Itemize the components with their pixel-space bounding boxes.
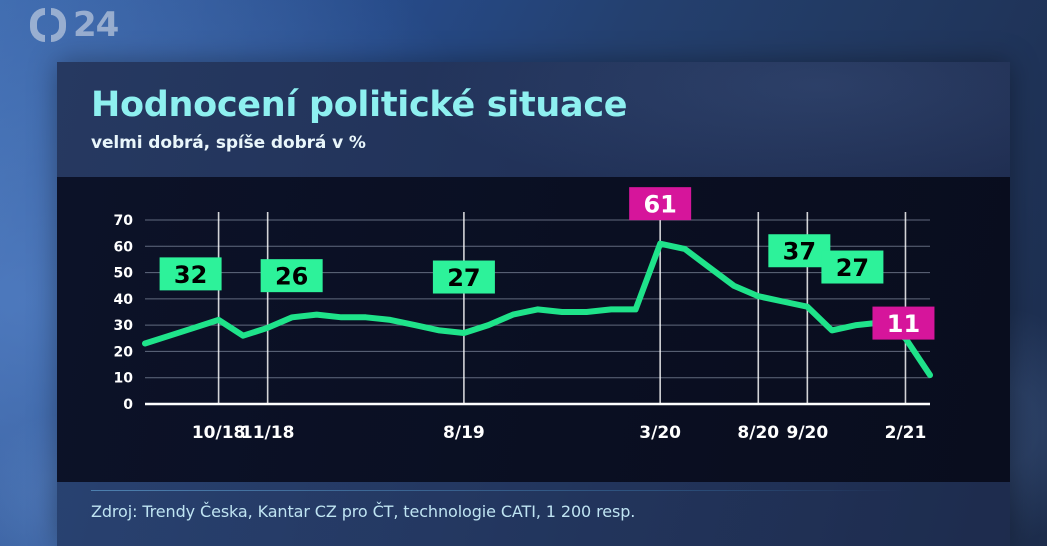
x-axis-tick-label: 10/18	[192, 423, 246, 443]
y-axis-tick-label: 0	[123, 397, 133, 413]
chart-subtitle: velmi dobrá, spíše dobrá v %	[91, 133, 366, 153]
value-callout: 27	[433, 261, 495, 294]
y-axis-tick-label: 30	[114, 318, 134, 334]
callout-label: 61	[643, 191, 676, 219]
footer-divider	[91, 490, 906, 491]
x-axis-tick-label: 9/20	[786, 423, 828, 443]
x-axis-tick-label: 3/20	[639, 423, 681, 443]
x-axis-tick-label: 11/18	[241, 423, 295, 443]
value-callout: 32	[160, 257, 222, 290]
infographic-panel: Hodnocení politické situace velmi dobrá,…	[57, 62, 1010, 546]
callout-label: 27	[447, 264, 480, 292]
value-callout: 61	[629, 187, 691, 220]
line-chart-svg: 01020304050607010/1811/188/193/208/209/2…	[57, 177, 1010, 482]
x-axis-tick-label: 8/20	[737, 423, 779, 443]
callout-label: 11	[887, 310, 920, 338]
callout-label: 27	[836, 254, 869, 282]
source-note: Zdroj: Trendy Česka, Kantar CZ pro ČT, t…	[91, 502, 635, 521]
ct24-logo: 24	[30, 8, 118, 42]
y-axis-tick-label: 10	[114, 371, 134, 387]
y-axis-tick-label: 70	[114, 213, 134, 229]
y-axis-tick-label: 20	[114, 344, 134, 360]
x-axis-tick-label: 8/19	[443, 423, 485, 443]
y-axis-tick-label: 60	[114, 239, 134, 255]
chart-plot-area: 01020304050607010/1811/188/193/208/209/2…	[57, 177, 1010, 482]
logo-channel-number: 24	[73, 8, 118, 42]
panel-header: Hodnocení politické situace velmi dobrá,…	[57, 62, 1010, 177]
ct-eye-icon	[30, 8, 66, 42]
chart-title: Hodnocení politické situace	[91, 85, 627, 125]
x-axis-tick-label: 2/21	[885, 423, 927, 443]
callout-label: 37	[783, 238, 816, 266]
y-axis-tick-label: 50	[114, 266, 134, 282]
callout-label: 26	[275, 263, 308, 291]
value-callout: 37	[768, 234, 830, 267]
value-callout: 27	[821, 251, 883, 284]
callout-label: 32	[174, 261, 207, 289]
value-callout: 11	[872, 307, 934, 340]
y-axis-tick-label: 40	[114, 292, 134, 308]
panel-footer: Zdroj: Trendy Česka, Kantar CZ pro ČT, t…	[57, 482, 1010, 546]
value-callout: 26	[261, 259, 323, 292]
